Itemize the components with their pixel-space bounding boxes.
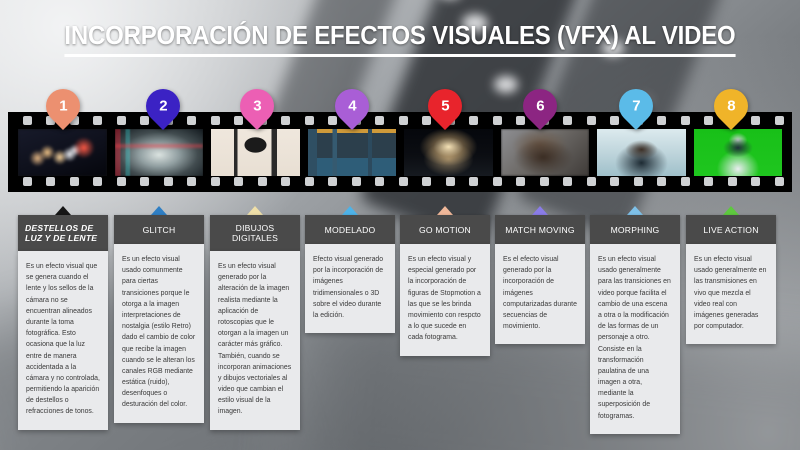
film-perforation (516, 116, 525, 125)
card-description: Es un efecto visual que se genera cuando… (18, 251, 108, 430)
film-perforation (681, 116, 690, 125)
film-perforation (234, 116, 243, 125)
marker-pin-number: 2 (159, 99, 167, 114)
film-perforation (258, 177, 267, 186)
film-perforation (281, 116, 290, 125)
film-frames (18, 129, 782, 176)
card-5[interactable]: GO MOTIONEs un efecto visual y especial … (400, 206, 490, 356)
film-perforation (681, 177, 690, 186)
card-title: GLITCH (114, 215, 204, 244)
film-perforation (446, 177, 455, 186)
marker-pin-number: 3 (253, 99, 261, 114)
marker-pin-number: 5 (441, 99, 449, 114)
film-perforation (704, 177, 713, 186)
film-perforations-bottom (8, 177, 792, 188)
film-perforation (23, 116, 32, 125)
film-perforation (493, 177, 502, 186)
film-perforation (375, 116, 384, 125)
marker-pin-number: 7 (632, 99, 640, 114)
film-frame-1 (18, 129, 107, 176)
card-connector-triangle-icon (247, 206, 263, 215)
film-perforation (305, 177, 314, 186)
card-description: Es el efecto visual generado por la inco… (495, 244, 585, 344)
card-description: Es un efecto visual usado generalmente e… (686, 244, 776, 344)
card-title: LIVE ACTION (686, 215, 776, 244)
card-8[interactable]: LIVE ACTIONEs un efecto visual usado gen… (686, 206, 776, 344)
film-perforation (70, 177, 79, 186)
card-connector-triangle-icon (342, 206, 358, 215)
film-perforation (516, 177, 525, 186)
film-frame-6 (501, 129, 590, 176)
morphing-monkey-man-photo (597, 129, 686, 176)
film-perforation (234, 177, 243, 186)
film-perforation (775, 116, 784, 125)
card-title: MATCH MOVING (495, 215, 585, 244)
film-perforation (164, 177, 173, 186)
card-description: Es un efecto visual usado generalmente p… (590, 244, 680, 434)
film-perforation (469, 116, 478, 125)
card-connector-triangle-icon (627, 206, 643, 215)
card-title: DESTELLOS DE LUZ Y DE LENTE (18, 215, 108, 251)
film-perforation (117, 116, 126, 125)
film-perforation (93, 116, 102, 125)
card-title: GO MOTION (400, 215, 490, 244)
film-perforation (728, 177, 737, 186)
marker-pin-number: 6 (536, 99, 544, 114)
card-6[interactable]: MATCH MOVINGEs el efecto visual generado… (495, 206, 585, 344)
film-perforation (399, 116, 408, 125)
film-perforation (563, 177, 572, 186)
background-film-hole (494, 76, 518, 93)
film-perforation (187, 116, 196, 125)
film-perforation (751, 177, 760, 186)
film-perforation (23, 177, 32, 186)
card-description: Es un efecto visual generado por la alte… (210, 251, 300, 430)
film-perforation (540, 177, 549, 186)
card-description: Es un efecto visual usado comunmente par… (114, 244, 204, 423)
film-perforation (587, 177, 596, 186)
cards-container: DESTELLOS DE LUZ Y DE LENTEEs un efecto … (0, 206, 800, 446)
film-perforation (211, 116, 220, 125)
green-screen-person-photo (694, 129, 783, 176)
film-strip (8, 112, 792, 192)
film-perforation (328, 116, 337, 125)
bokeh-lights-photo (18, 129, 107, 176)
marker-pin-number: 8 (727, 99, 735, 114)
film-frame-4 (308, 129, 397, 176)
film-perforation (328, 177, 337, 186)
film-perforation (399, 177, 408, 186)
motion-blur-portrait-photo (501, 129, 590, 176)
card-1[interactable]: DESTELLOS DE LUZ Y DE LENTEEs un efecto … (18, 206, 108, 430)
film-perforation (422, 116, 431, 125)
card-connector-triangle-icon (723, 206, 739, 215)
film-perforation (305, 116, 314, 125)
film-perforation (422, 177, 431, 186)
rotoscope-camera-drawing (211, 129, 300, 176)
film-perforation (140, 177, 149, 186)
card-title: MORPHING (590, 215, 680, 244)
film-frame-7 (597, 129, 686, 176)
card-connector-triangle-icon (151, 206, 167, 215)
film-perforation (281, 177, 290, 186)
film-perforation (187, 177, 196, 186)
card-description: Efecto visual generado por la incorporac… (305, 244, 395, 333)
card-3[interactable]: DIBUJOS DIGITALESEs un efecto visual gen… (210, 206, 300, 430)
page-title: INCORPORACIÓN DE EFECTOS VISUALES (VFX) … (64, 22, 735, 57)
carousel-stopmotion-photo (404, 129, 493, 176)
film-perforation (657, 116, 666, 125)
film-frame-3 (211, 129, 300, 176)
film-frame-2 (115, 129, 204, 176)
film-perforation (46, 177, 55, 186)
film-perforation (211, 177, 220, 186)
film-perforation (634, 177, 643, 186)
film-perforation (657, 177, 666, 186)
film-perforation (493, 116, 502, 125)
film-perforation (563, 116, 572, 125)
film-perforation (775, 177, 784, 186)
film-perforation (93, 177, 102, 186)
film-perforation (751, 116, 760, 125)
film-perforation (704, 116, 713, 125)
film-perforation (375, 177, 384, 186)
film-perforation (610, 177, 619, 186)
card-connector-triangle-icon (532, 206, 548, 215)
marker-pin-number: 4 (348, 99, 356, 114)
film-perforation (117, 177, 126, 186)
film-perforation (587, 116, 596, 125)
card-4[interactable]: MODELADOEfecto visual generado por la in… (305, 206, 395, 333)
card-7[interactable]: MORPHINGEs un efecto visual usado genera… (590, 206, 680, 434)
film-perforation (469, 177, 478, 186)
card-title: MODELADO (305, 215, 395, 244)
film-perforation (352, 177, 361, 186)
film-perforation (140, 116, 149, 125)
film-frame-5 (404, 129, 493, 176)
card-connector-triangle-icon (55, 206, 71, 215)
card-title: DIBUJOS DIGITALES (210, 215, 300, 251)
card-connector-triangle-icon (437, 206, 453, 215)
marker-pin-number: 1 (59, 99, 67, 114)
glitch-portrait-photo (115, 129, 204, 176)
film-perforations-top (8, 116, 792, 127)
card-2[interactable]: GLITCHEs un efecto visual usado comunmen… (114, 206, 204, 423)
film-perforation (610, 116, 619, 125)
title-container: INCORPORACIÓN DE EFECTOS VISUALES (VFX) … (0, 22, 800, 57)
3d-studio-render (308, 129, 397, 176)
card-description: Es un efecto visual y especial generado … (400, 244, 490, 356)
film-frame-8 (694, 129, 783, 176)
